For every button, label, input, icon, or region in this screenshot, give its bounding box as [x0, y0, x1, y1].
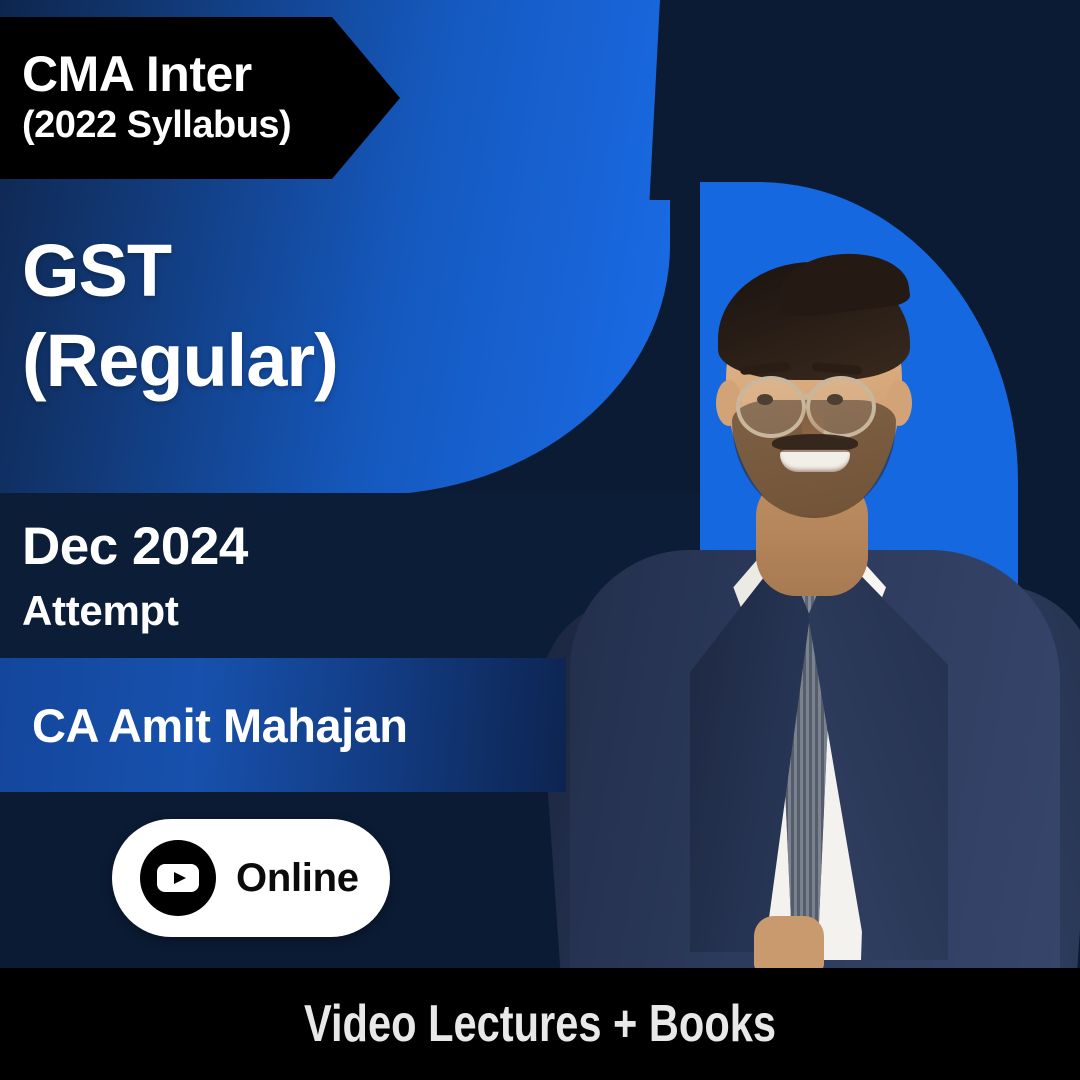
portrait-mouth	[780, 450, 850, 472]
footer-text: Video Lectures + Books	[304, 994, 776, 1054]
course-level-tag: CMA Inter (2022 Syllabus)	[0, 17, 400, 179]
course-poster: CMA Inter (2022 Syllabus) GST (Regular) …	[0, 0, 1080, 1080]
background-shape-navy-gap	[649, 0, 720, 200]
course-level-title: CMA Inter	[22, 48, 400, 101]
course-syllabus-label: (2022 Syllabus)	[22, 104, 400, 148]
portrait-mouth-line	[780, 449, 850, 452]
footer-bar: Video Lectures + Books	[0, 968, 1080, 1080]
youtube-play-icon	[140, 840, 216, 916]
course-title: GST (Regular)	[22, 226, 338, 407]
faculty-name: CA Amit Mahajan	[0, 698, 408, 753]
instructor-portrait	[540, 240, 1080, 970]
portrait-glasses-bridge	[796, 394, 810, 398]
portrait-glasses-lens-left	[736, 376, 806, 438]
attempt-label: Attempt	[22, 590, 179, 632]
mode-badge-online[interactable]: Online	[112, 819, 390, 937]
mode-badge-label: Online	[236, 856, 359, 901]
attempt-period: Dec 2024	[22, 520, 248, 573]
portrait-hand	[754, 916, 824, 970]
faculty-band: CA Amit Mahajan	[0, 658, 566, 792]
